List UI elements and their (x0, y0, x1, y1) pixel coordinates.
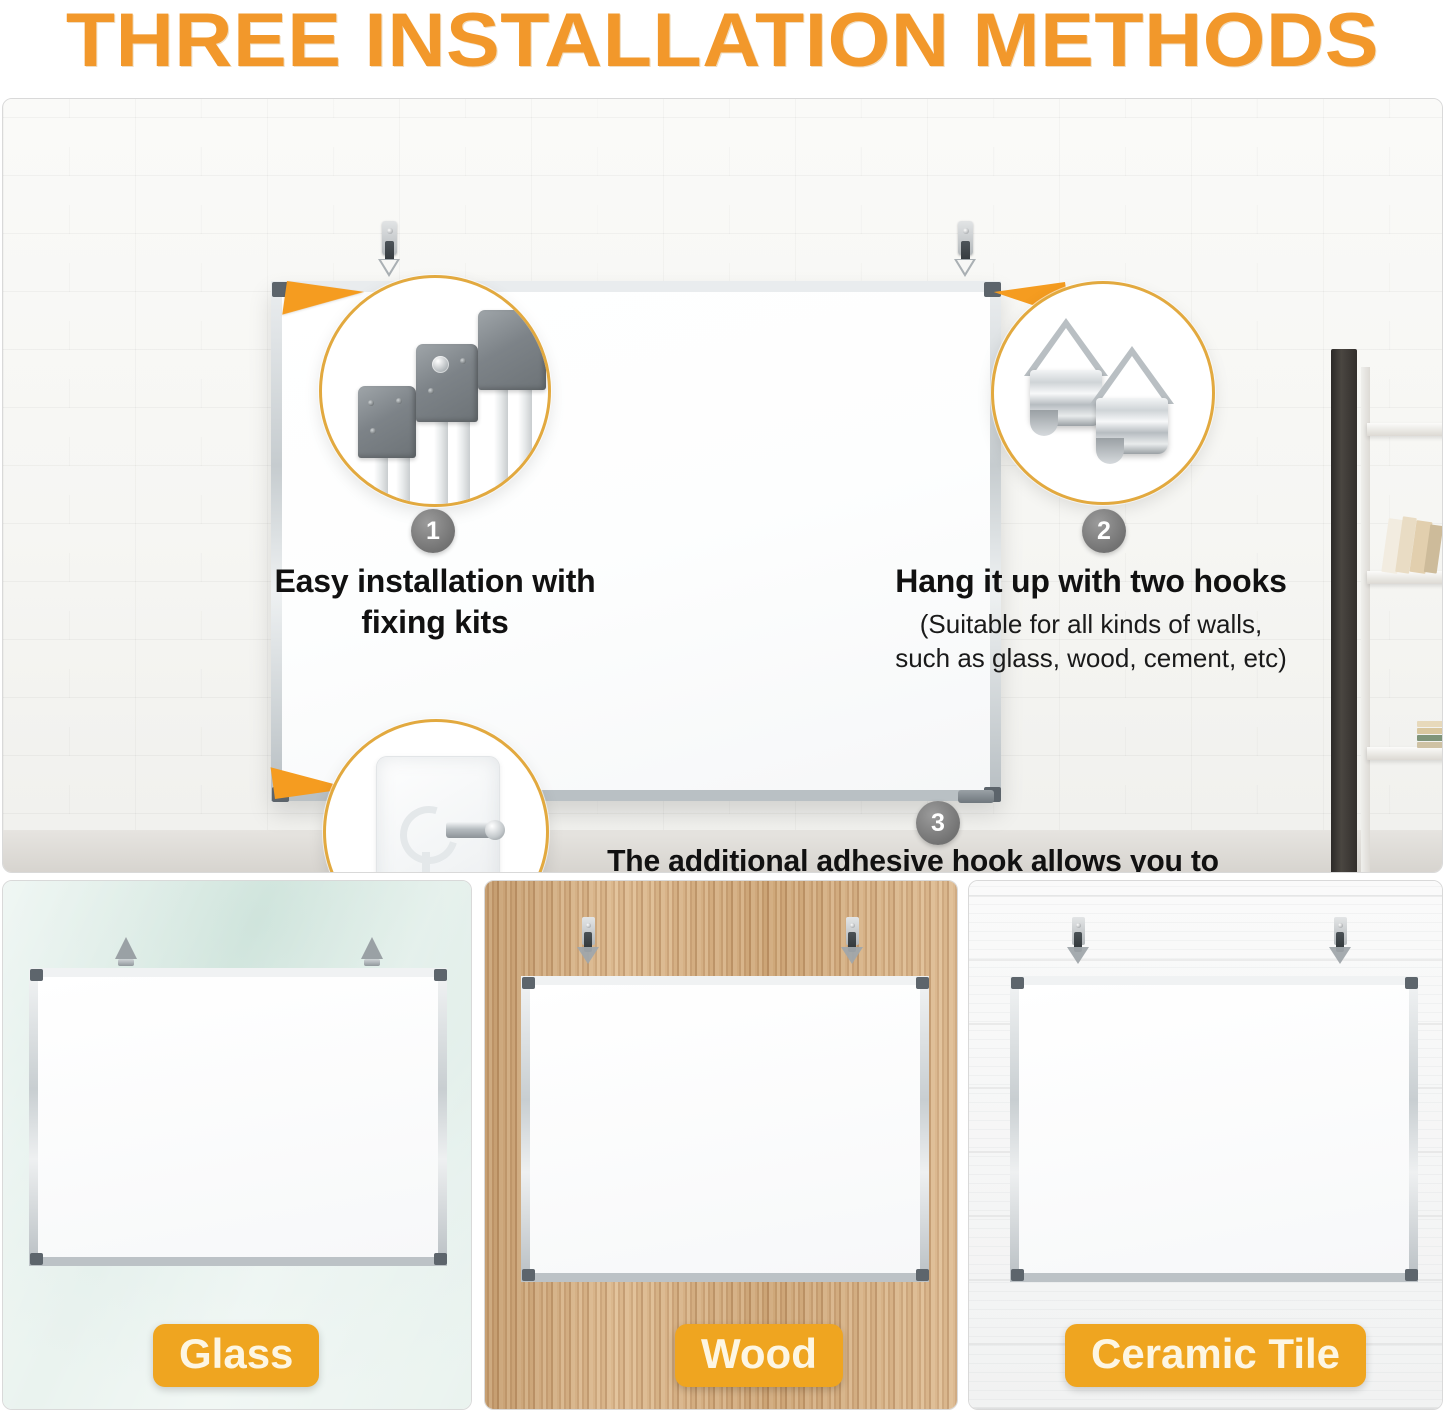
callout-circle-fixing-kit (319, 275, 551, 507)
caption-2-line-1: Hang it up with two hooks (841, 561, 1341, 602)
surface-pane-glass: Glass (2, 880, 472, 1410)
caption-step-3: The additional adhesive hook allows you … (533, 841, 1293, 873)
wire-hook-icon (115, 937, 137, 971)
caption-1-line-2: fixing kits (185, 602, 685, 643)
wire-hook-icon (361, 937, 383, 971)
corner-bracket-icon (358, 386, 416, 458)
wall-hook-icon (1331, 917, 1349, 969)
material-label-glass: Glass (153, 1324, 319, 1387)
pen-tray-clip (958, 790, 994, 803)
shelf-board (1367, 423, 1443, 436)
step-badge-1: 1 (411, 509, 455, 553)
caption-step-1: Easy installation with fixing kits (185, 561, 685, 643)
mini-corner-cap (434, 1253, 447, 1265)
surface-pane-wood: Wood (484, 880, 958, 1410)
caption-2-sub-line-1: (Suitable for all kinds of walls, (841, 608, 1341, 642)
mini-corner-cap (1405, 1269, 1418, 1281)
corner-bracket-icon (416, 344, 478, 422)
corner-bracket-icon (478, 310, 546, 390)
step-badge-2: 2 (1082, 509, 1126, 553)
callout-circle-wall-hooks (991, 281, 1215, 505)
page-title: THREE INSTALLATION METHODS (66, 0, 1379, 84)
mini-whiteboard-frame (29, 968, 447, 1266)
hook-tail-icon (422, 852, 430, 873)
mini-whiteboard-frame (1010, 976, 1418, 1282)
book-stack (1417, 721, 1443, 747)
mini-corner-cap (916, 1269, 929, 1281)
mini-whiteboard-frame (521, 976, 929, 1282)
mini-corner-cap (1011, 977, 1024, 989)
wall-hook-icon (378, 221, 400, 283)
wall-hook-icon (843, 917, 861, 969)
mini-corner-cap (30, 969, 43, 981)
page-title-bar: THREE INSTALLATION METHODS (0, 0, 1445, 86)
mini-corner-cap (434, 969, 447, 981)
material-label-ceramic-tile: Ceramic Tile (1065, 1324, 1366, 1387)
mini-corner-cap (916, 977, 929, 989)
wall-hook-icon (954, 221, 976, 283)
infographic-page: THREE INSTALLATION METHODS (0, 0, 1445, 1414)
mini-corner-cap (30, 1253, 43, 1265)
material-label-wood: Wood (675, 1324, 843, 1387)
hero-panel: 1 2 3 Easy installation with fixing kits… (2, 98, 1443, 873)
wall-hook-icon (1069, 917, 1087, 969)
mini-corner-cap (522, 1269, 535, 1281)
step-badge-3: 3 (916, 801, 960, 845)
surface-examples-row: Glass Wood (0, 880, 1445, 1414)
shelf-post-back (1361, 367, 1370, 873)
caption-3-line-1: The additional adhesive hook allows you … (544, 841, 1281, 873)
mini-corner-cap (1405, 977, 1418, 989)
caption-1-line-1: Easy installation with (185, 561, 685, 602)
screw-icon (446, 822, 496, 838)
wall-hook-icon (579, 917, 597, 969)
mini-corner-cap (522, 977, 535, 989)
mini-corner-cap (1011, 1269, 1024, 1281)
caption-2-sub-line-2: such as glass, wood, cement, etc) (841, 642, 1341, 676)
surface-pane-tile: Ceramic Tile (968, 880, 1443, 1410)
caption-step-2: Hang it up with two hooks (Suitable for … (841, 561, 1341, 676)
shelf-board (1367, 747, 1443, 760)
